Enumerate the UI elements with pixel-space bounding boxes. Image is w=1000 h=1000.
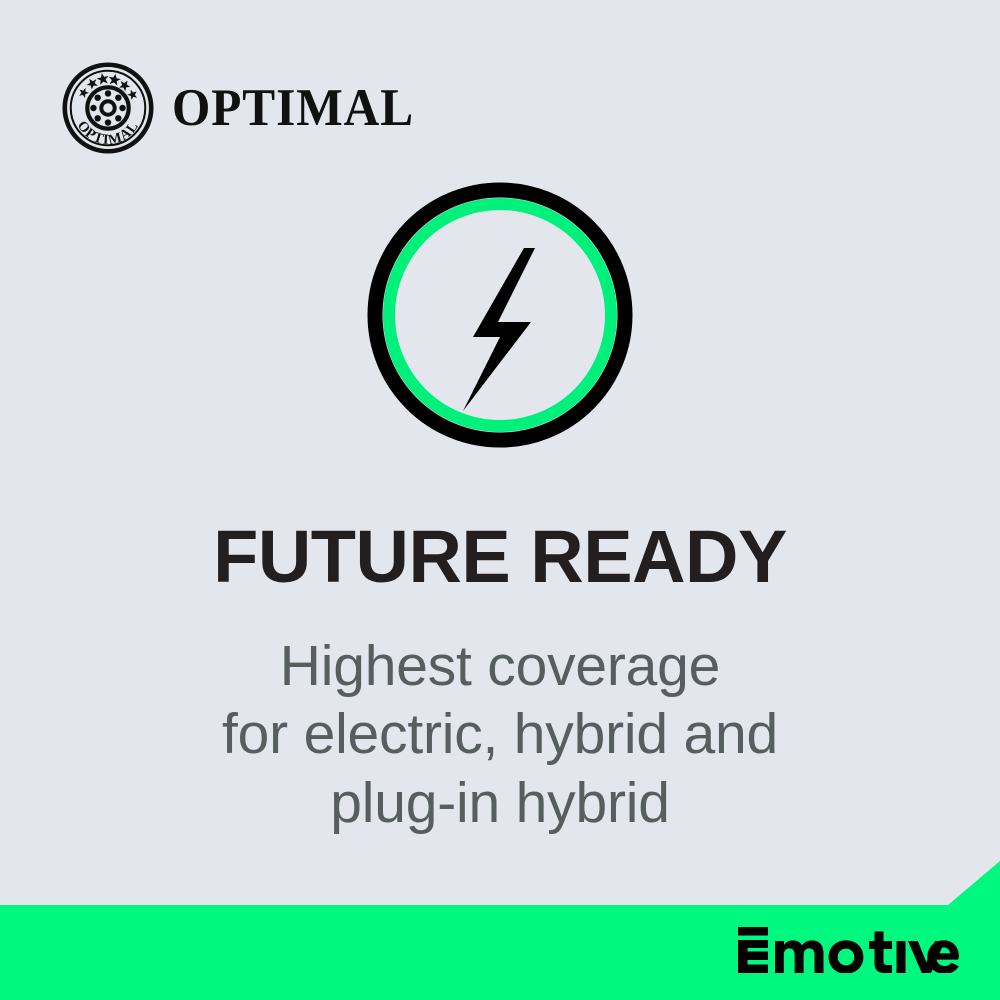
subheadline-line-3: plug-in hybrid — [0, 769, 1000, 837]
promo-poster: OPTIMAL OPTIMAL — [0, 0, 1000, 1000]
bolt-shape — [463, 248, 535, 411]
subheadline-line-1: Highest coverage — [0, 632, 1000, 700]
emotive-logo: Emotive — [736, 927, 960, 973]
optimal-seal-emblem-icon: OPTIMAL — [62, 62, 154, 154]
page-title: FUTURE READY — [0, 518, 1000, 596]
lightning-bolt-in-circle-icon — [367, 179, 633, 451]
footer-banner: Emotive — [0, 861, 1000, 1000]
brand-wordmark: OPTIMAL — [172, 82, 414, 135]
subheadline: Highest coverage for electric, hybrid an… — [0, 632, 1000, 837]
brand-lockup: OPTIMAL OPTIMAL — [62, 62, 432, 154]
subheadline-line-2: for electric, hybrid and — [0, 700, 1000, 768]
